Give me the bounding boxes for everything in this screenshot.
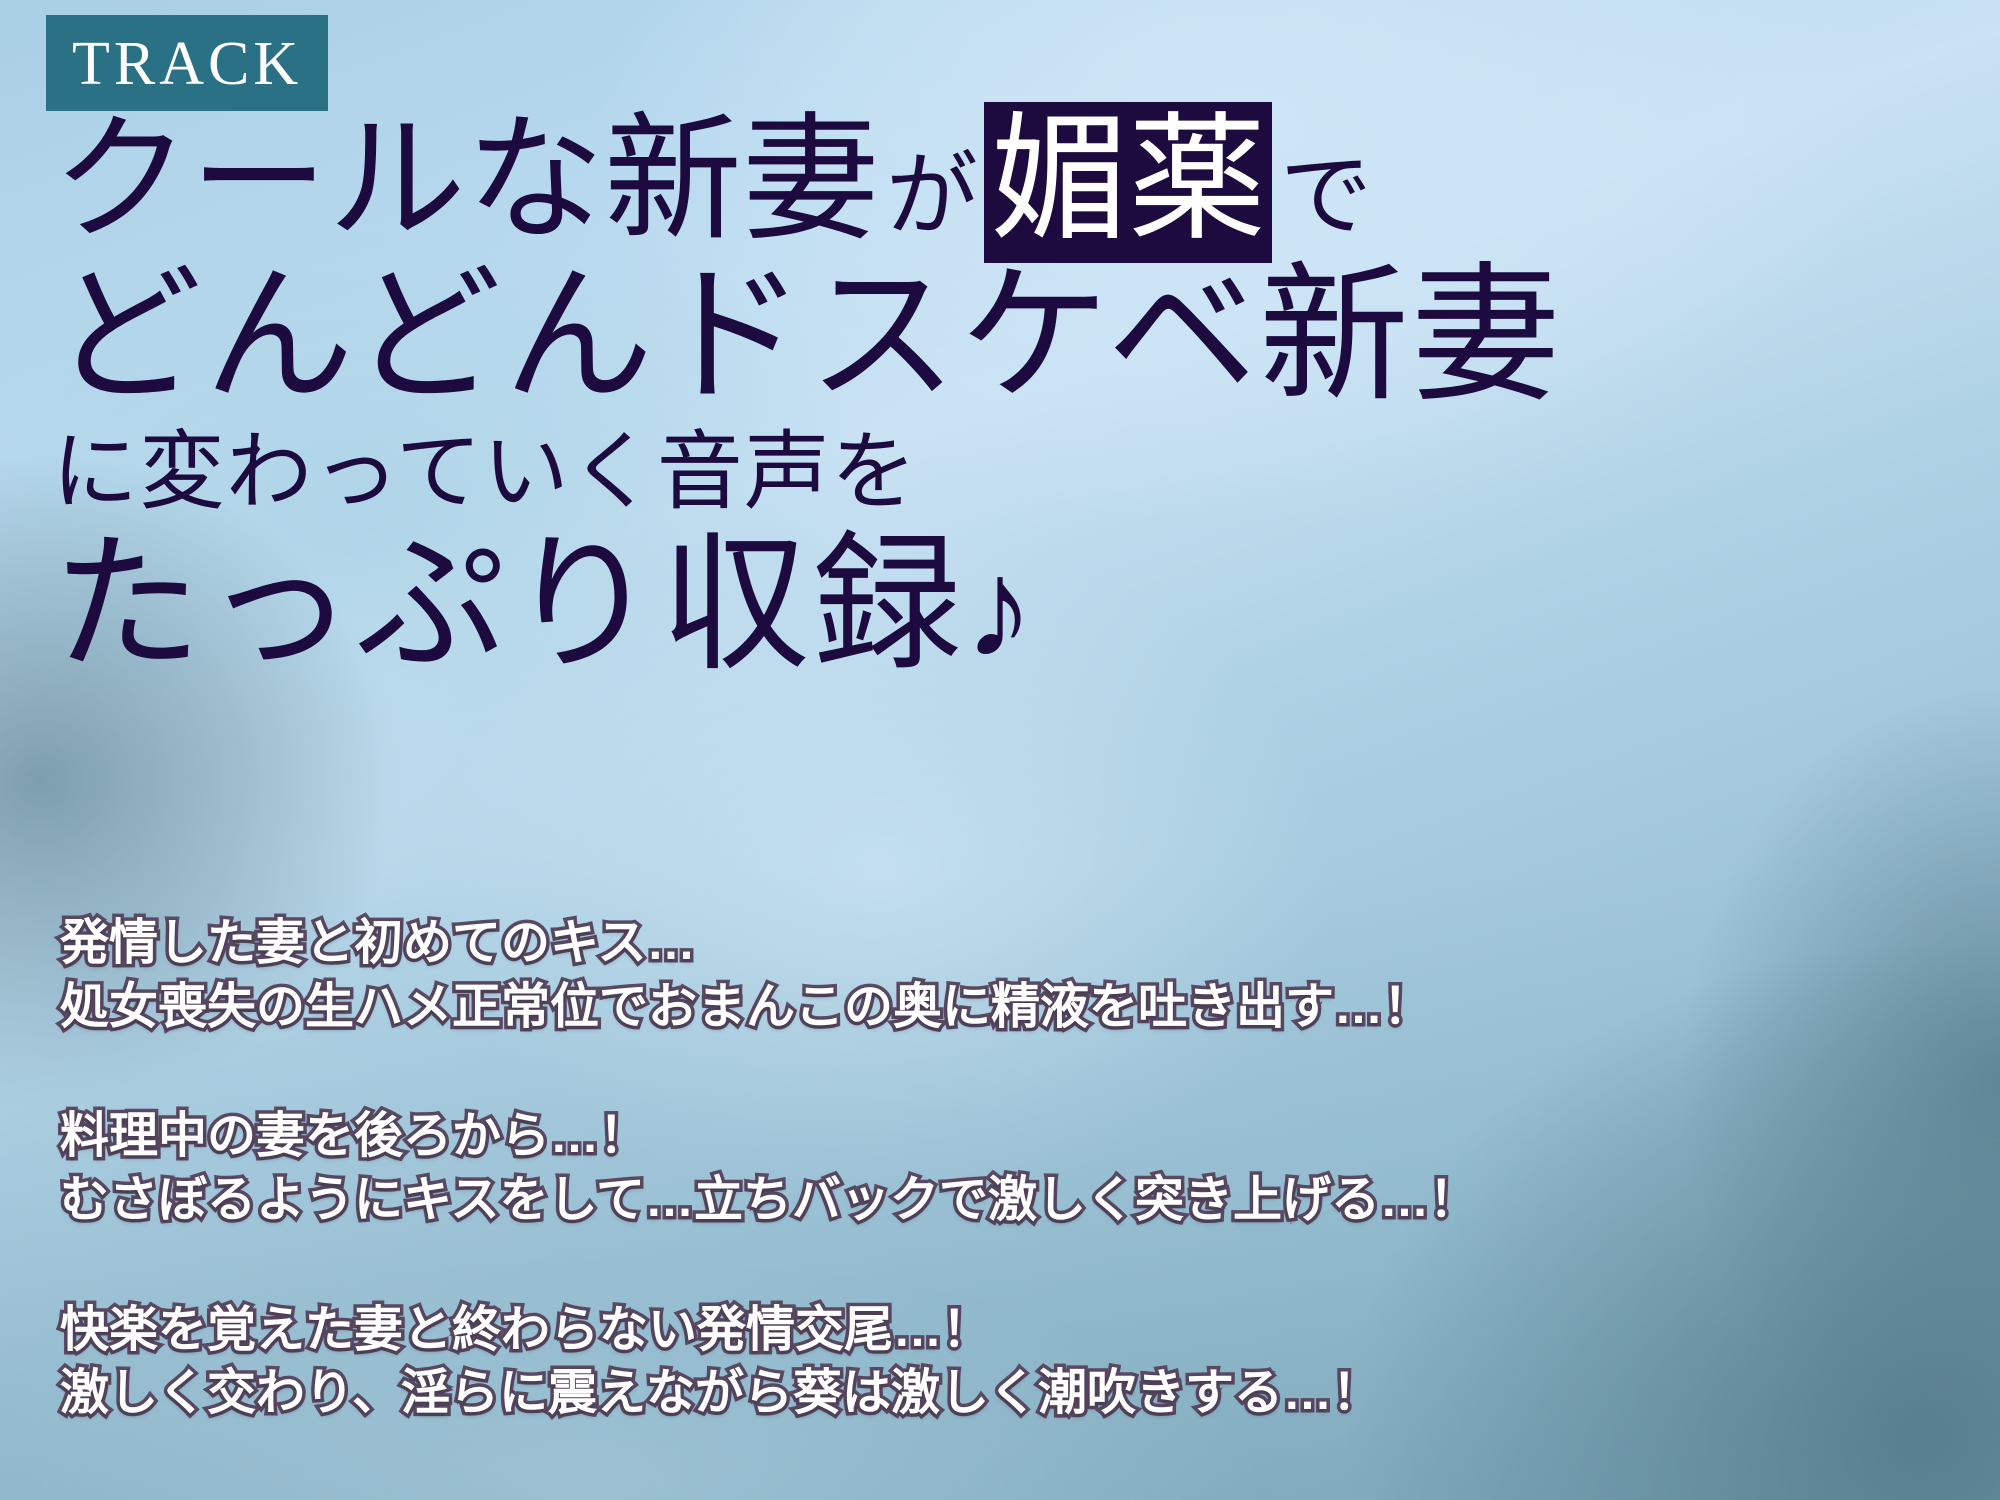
description-paragraph: 料理中の妻を後ろから…！ むさぼるようにキスをして…立ちバックで激しく突き上げる… <box>60 1105 1940 1232</box>
music-note-icon: ♪ <box>964 532 1036 687</box>
headline-line-3: に変わっていく音声を <box>52 417 1952 529</box>
headline-line-1-main: クールな新妻 <box>52 104 880 257</box>
headline-line-1: クールな新妻が媚薬で <box>52 106 1952 255</box>
headline-line-1-particle: が <box>880 145 984 247</box>
description-line: 処女喪失の生ハメ正常位でおまんこの奥に精液を吐き出す…！ <box>60 976 1940 1040</box>
track-badge: TRACK <box>46 15 328 111</box>
description-line: むさぼるようにキスをして…立ちバックで激しく突き上げる…！ <box>60 1169 1940 1233</box>
description-paragraph: 発情した妻と初めてのキス… 処女喪失の生ハメ正常位でおまんこの奥に精液を吐き出す… <box>60 912 1940 1039</box>
headline-highlight-aphrodisiac: 媚薬 <box>984 102 1272 263</box>
headline-line-4-text: たっぷり収録 <box>52 523 964 689</box>
description-line: 快楽を覚えた妻と終わらない発情交尾…！ <box>60 1299 1940 1363</box>
poster-canvas: TRACK クールな新妻が媚薬で どんどんドスケベ新妻 に変わっていく音声を た… <box>0 0 2000 1500</box>
description-paragraph: 快楽を覚えた妻と終わらない発情交尾…！ 激しく交わり、淫らに震えながら葵は激しく… <box>60 1299 1940 1426</box>
headline-block: クールな新妻が媚薬で どんどんドスケベ新妻 に変わっていく音声を たっぷり収録♪ <box>52 106 1952 686</box>
headline-line-4: たっぷり収録♪ <box>52 528 1952 686</box>
headline-line-2: どんどんドスケベ新妻 <box>52 259 1952 417</box>
description-line: 料理中の妻を後ろから…！ <box>60 1105 1940 1169</box>
description-block: 発情した妻と初めてのキス… 処女喪失の生ハメ正常位でおまんこの奥に精液を吐き出す… <box>60 912 1940 1426</box>
description-line: 発情した妻と初めてのキス… <box>60 912 1940 976</box>
headline-line-1-tail: で <box>1272 145 1372 247</box>
description-line: 激しく交わり、淫らに震えながら葵は激しく潮吹きする…！ <box>60 1362 1940 1426</box>
